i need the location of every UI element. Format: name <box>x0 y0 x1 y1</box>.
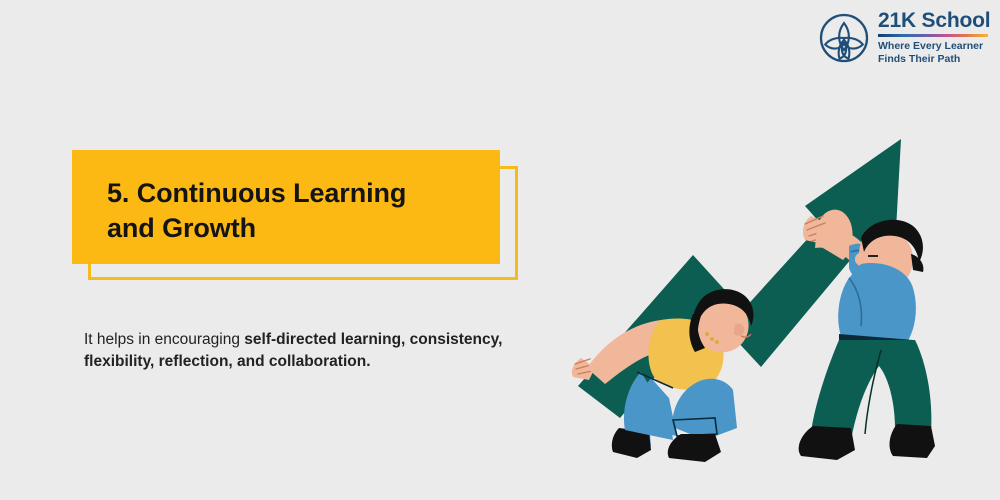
brand-gradient-rule <box>878 34 988 37</box>
brand-name: 21K School <box>878 10 990 31</box>
page-title: 5. Continuous Learning and Growth <box>107 176 497 245</box>
slide-canvas: 21K School Where Every Learner Finds The… <box>0 0 1000 500</box>
brand-text-block: 21K School Where Every Learner Finds The… <box>878 10 990 65</box>
body-paragraph: It helps in encouraging self-directed le… <box>84 329 534 373</box>
brand-logo: 21K School Where Every Learner Finds The… <box>818 8 994 68</box>
standing-person-pushing-arrow <box>799 210 935 460</box>
body-lead-text: It helps in encouraging <box>84 331 244 348</box>
lotus-circle-icon <box>818 12 870 64</box>
two-people-lifting-growth-arrow-illustration <box>565 128 935 473</box>
brand-tagline-line-1: Where Every Learner <box>878 40 990 53</box>
brand-tagline-line-2: Finds Their Path <box>878 53 990 66</box>
